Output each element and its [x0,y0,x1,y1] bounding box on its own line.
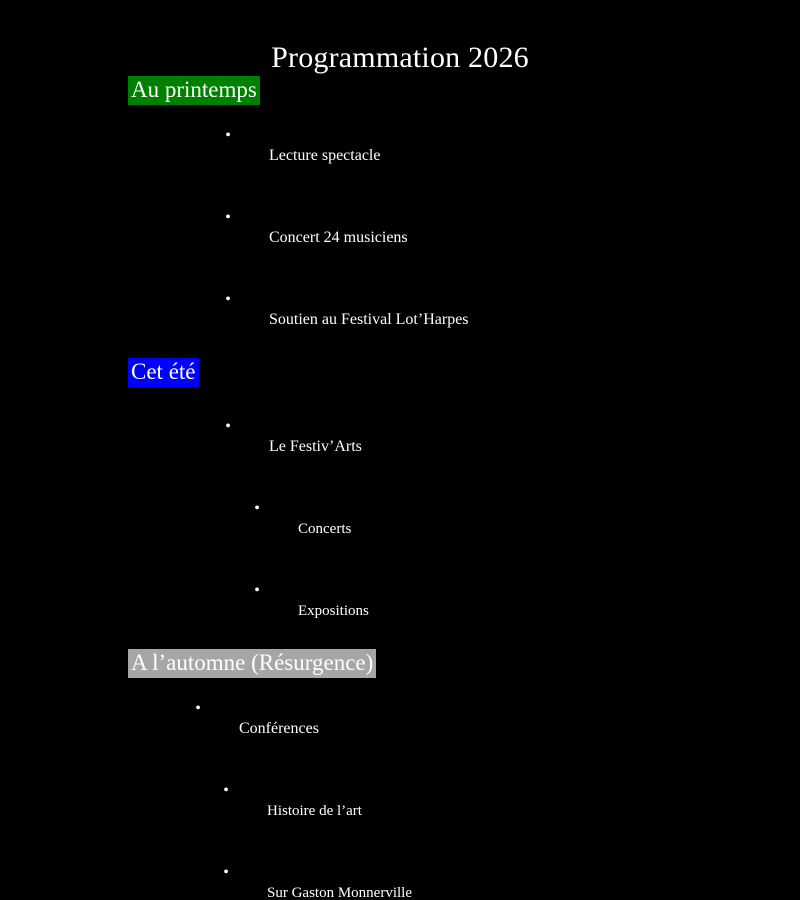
list-item: • Expositions [0,560,800,642]
list-item-label: Concert 24 musiciens [269,228,408,249]
list-item-label: Soutien au Festival Lot’Harpes [269,310,469,331]
list-item: • Lecture spectacle [0,105,800,187]
list-item: • Concerts [0,478,800,560]
bullet-dot-icon: • [223,126,233,147]
list-item-label: Concerts [298,519,351,540]
section-heading-summer: Cet été [0,358,800,387]
bullet-dot-icon: • [252,499,262,520]
list-item: • Conférences [0,678,800,760]
bullet-dot-icon: • [223,290,233,311]
bullet-list-summer: • Le Festiv’Arts • Concerts • Exposition… [0,396,800,642]
list-item: • Histoire de l’art [0,760,800,842]
section-heading-spring: Au printemps [0,76,800,105]
bullet-dot-icon: • [221,863,231,884]
slide-body: Au printemps • Lecture spectacle • Conce… [0,70,800,900]
section-heading-summer-label: Cet été [128,358,199,387]
section-heading-autumn-label: A l’automne (Résurgence) [128,649,376,678]
list-item-label: Expositions [298,601,369,622]
bullet-dot-icon: • [252,581,262,602]
slide-canvas: Programmation 2026 Au printemps • Lectur… [0,0,800,450]
list-item-label: Histoire de l’art [267,801,362,822]
list-item-label: Sur Gaston Monnerville [267,883,412,900]
list-item-label: Lecture spectacle [269,146,380,167]
bullet-dot-icon: • [221,781,231,802]
bullet-list-spring: • Lecture spectacle • Concert 24 musicie… [0,105,800,351]
bullet-dot-icon: • [193,699,203,720]
bullet-list-autumn: • Conférences • Histoire de l’art • Sur … [0,678,800,900]
list-item: • Sur Gaston Monnerville [0,842,800,900]
section-heading-autumn: A l’automne (Résurgence) [0,649,800,678]
section-heading-spring-label: Au printemps [128,76,260,105]
bullet-dot-icon: • [223,417,233,438]
list-item-label: Conférences [239,719,319,740]
list-item: • Le Festiv’Arts [0,396,800,478]
list-item-label: Le Festiv’Arts [269,437,362,458]
list-item: • Soutien au Festival Lot’Harpes [0,269,800,351]
list-item: • Concert 24 musiciens [0,187,800,269]
bullet-dot-icon: • [223,208,233,229]
spacer [0,387,800,396]
